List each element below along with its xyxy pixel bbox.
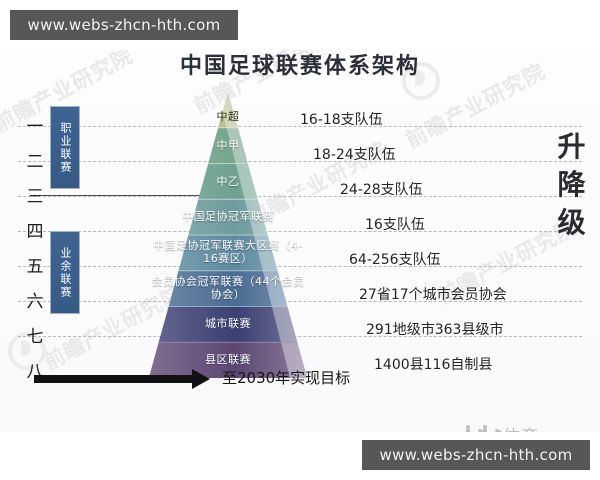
- category-tag-amateur: 业余联赛: [50, 231, 80, 314]
- pp-logo-text: 体育: [503, 422, 539, 432]
- promotion-relegation-char-1: 升: [552, 128, 592, 166]
- teams-note-1: 16-18支队伍: [300, 109, 383, 129]
- pp-logo-icon: [483, 425, 498, 432]
- promotion-relegation-char-3: 级: [552, 204, 592, 242]
- watermark-banner-top: www.webs-zhcn-hth.com: [10, 10, 238, 40]
- teams-note-7: 291地级市363县级市: [366, 319, 503, 339]
- pp-sports-logo: 体育: [466, 422, 539, 432]
- pyramid-shape: [108, 88, 348, 378]
- promotion-relegation-char-2: 降: [552, 166, 592, 204]
- league-pyramid: 中超 中甲 中乙 中国足协冠军联赛 中国足协冠军联赛大区赛（4-16赛区） 会员…: [108, 88, 348, 378]
- teams-note-3: 24-28支队伍: [340, 179, 423, 199]
- teams-note-5: 64-256支队伍: [349, 249, 441, 269]
- infographic-stage: www.webs-zhcn-hth.com 前瞻产业研究院 前瞻产业研究院 前瞻…: [0, 0, 600, 480]
- arrow-head-icon: [192, 369, 210, 389]
- watermark-url-bottom: www.webs-zhcn-hth.com: [380, 446, 573, 464]
- category-tag-professional: 职业联赛: [50, 106, 80, 189]
- level-numeral-2: 二: [22, 147, 48, 172]
- arrow-line: [34, 375, 194, 383]
- teams-note-6: 27省17个城市会员协会: [359, 284, 507, 304]
- level-numeral-3: 三: [22, 182, 48, 207]
- promotion-relegation-label: 升 降 级: [552, 128, 592, 242]
- page-title: 中国足球联赛体系架构: [0, 50, 600, 84]
- category-tag-amateur-label: 业余联赛: [57, 247, 73, 299]
- level-numeral-7: 七: [22, 322, 48, 347]
- teams-note-2: 18-24支队伍: [313, 144, 396, 164]
- goal-text: 至2030年实现目标: [222, 367, 350, 388]
- goal-arrow-group: 至2030年实现目标: [34, 368, 374, 390]
- level-numeral-5: 五: [22, 252, 48, 277]
- pp-logo-icon: [466, 425, 481, 432]
- level-numeral-6: 六: [22, 287, 48, 312]
- level-numeral-4: 四: [22, 217, 48, 242]
- watermark-banner-bottom: www.webs-zhcn-hth.com: [362, 440, 590, 470]
- teams-note-8: 1400县116自制县: [374, 354, 492, 374]
- watermark-url-top: www.webs-zhcn-hth.com: [28, 16, 221, 34]
- category-tag-professional-label: 职业联赛: [57, 122, 73, 174]
- infographic-canvas: 前瞻产业研究院 前瞻产业研究院 前瞻产业研究院 前瞻产业研究院 前瞻产业研究院 …: [0, 50, 600, 432]
- teams-note-4: 16支队伍: [365, 214, 425, 234]
- level-numeral-1: 一: [22, 112, 48, 137]
